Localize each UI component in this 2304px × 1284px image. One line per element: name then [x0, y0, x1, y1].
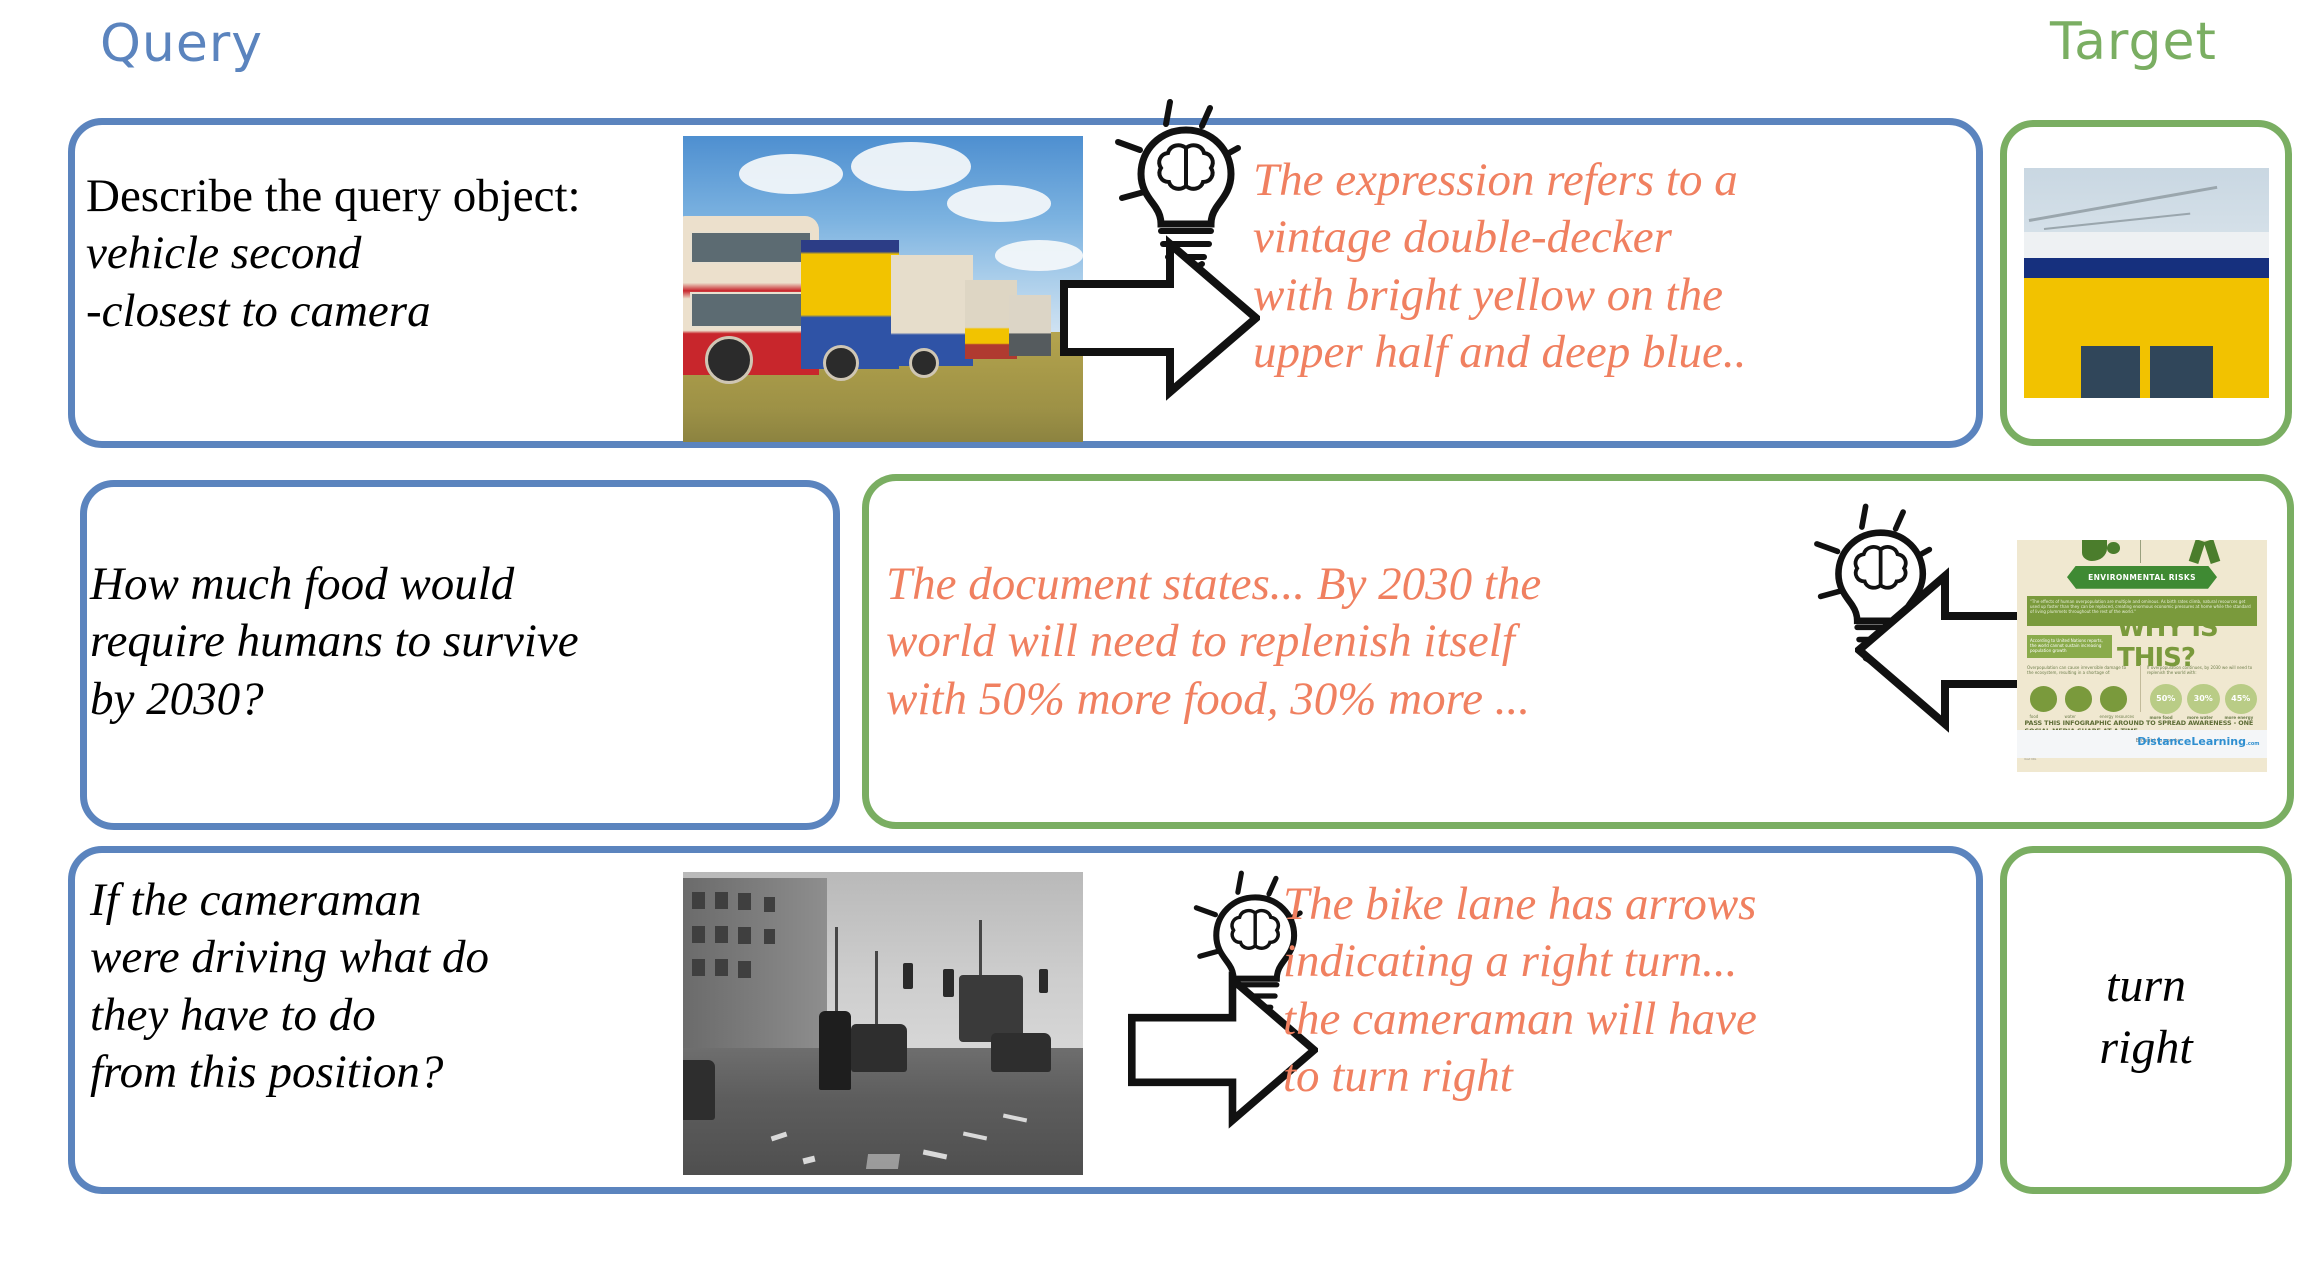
- stat-2-pct: 45%: [2225, 684, 2258, 714]
- bus-blue-band: [2024, 258, 2269, 279]
- stat-0-pct: 50%: [2150, 684, 2183, 714]
- row3-answer-text: The bike lane has arrows indicating a ri…: [1283, 876, 1983, 1105]
- infographic-brand: DistanceLearning.com: [2137, 735, 2259, 748]
- row1-query-image: [683, 136, 1083, 442]
- bus-window: [690, 231, 812, 264]
- bike-lane-arrow: [866, 1154, 900, 1169]
- bus-cream-blue: [891, 255, 973, 365]
- cloud: [947, 185, 1051, 222]
- wheel: [909, 348, 939, 378]
- infographic-note: According to United Nations reports, the…: [2027, 635, 2112, 658]
- bus-roof-band: [2024, 232, 2269, 257]
- traffic-light: [943, 969, 954, 997]
- row1-query-text: Describe the query object: vehicle secon…: [86, 168, 686, 340]
- energy-icon: [2100, 686, 2128, 712]
- infographic-ribbon: ENVIRONMENTAL RISKS: [2067, 566, 2217, 589]
- row3-target-text: turn right: [2024, 955, 2268, 1080]
- building-row: [683, 878, 827, 1048]
- infographic-headline: WHY IS THIS?: [2117, 628, 2262, 658]
- row1-query-text-italic: vehicle second -closest to camera: [86, 227, 431, 336]
- car: [851, 1024, 907, 1072]
- stat-1-pct: 30%: [2187, 684, 2220, 714]
- street-lamp: [875, 951, 878, 1036]
- window: [692, 926, 705, 943]
- row1-answer-text: The expression refers to a vintage doubl…: [1253, 152, 1953, 381]
- row3-query-image: [683, 872, 1083, 1175]
- window: [715, 892, 728, 909]
- traffic-light: [903, 963, 913, 989]
- wheel: [823, 345, 859, 381]
- brand-text: DistanceLearning: [2137, 735, 2246, 748]
- column-divider: [2140, 665, 2141, 711]
- row2-target-image: ENVIRONMENTAL RISKS "The effects of huma…: [2017, 540, 2267, 772]
- arrow-right-icon: [1060, 228, 1260, 408]
- row3-query-text: If the cameraman were driving what do th…: [90, 872, 670, 1101]
- traffic-light: [1039, 969, 1048, 993]
- row1-query-text-plain: Describe the query object:: [86, 170, 581, 222]
- infographic-references: Kout URL: [2025, 758, 2200, 762]
- infographic-right-col: If overpopulation continues, by 2030 we …: [2147, 665, 2257, 675]
- cloud: [851, 142, 971, 191]
- window: [738, 927, 751, 944]
- food-icon: [2030, 686, 2058, 712]
- bus-window: [2078, 343, 2143, 398]
- row2-answer-text: The document states... By 2030 the world…: [886, 556, 1786, 728]
- cyclist: [819, 1011, 851, 1090]
- double-decker-bus: [959, 975, 1023, 1042]
- window: [715, 926, 728, 943]
- cloud: [739, 154, 843, 194]
- infographic-left-col: Overpopulation can cause irreversible da…: [2027, 665, 2132, 675]
- window: [715, 959, 728, 976]
- car: [991, 1033, 1051, 1072]
- column-header-query: Query: [100, 14, 263, 74]
- window: [692, 959, 705, 976]
- row1-target-image: [2024, 168, 2269, 398]
- water-icon: [2065, 686, 2093, 712]
- column-header-target: Target: [2050, 12, 2217, 72]
- window: [764, 929, 776, 944]
- bus-window: [690, 292, 812, 328]
- window: [692, 892, 705, 909]
- bus-windshield: [2147, 343, 2217, 398]
- bus-distant-2: [1009, 295, 1051, 356]
- row2-query-text: How much food would require humans to su…: [90, 556, 790, 728]
- figure-canvas: Query Target Describe the query object: …: [0, 0, 2304, 1284]
- window: [738, 961, 751, 978]
- window: [764, 897, 776, 912]
- wheel: [705, 336, 753, 384]
- divider: [2140, 540, 2141, 563]
- car: [683, 1060, 715, 1121]
- leaf-graphic: [2107, 542, 2120, 554]
- brand-tld: .com: [2246, 741, 2260, 747]
- window: [738, 893, 751, 910]
